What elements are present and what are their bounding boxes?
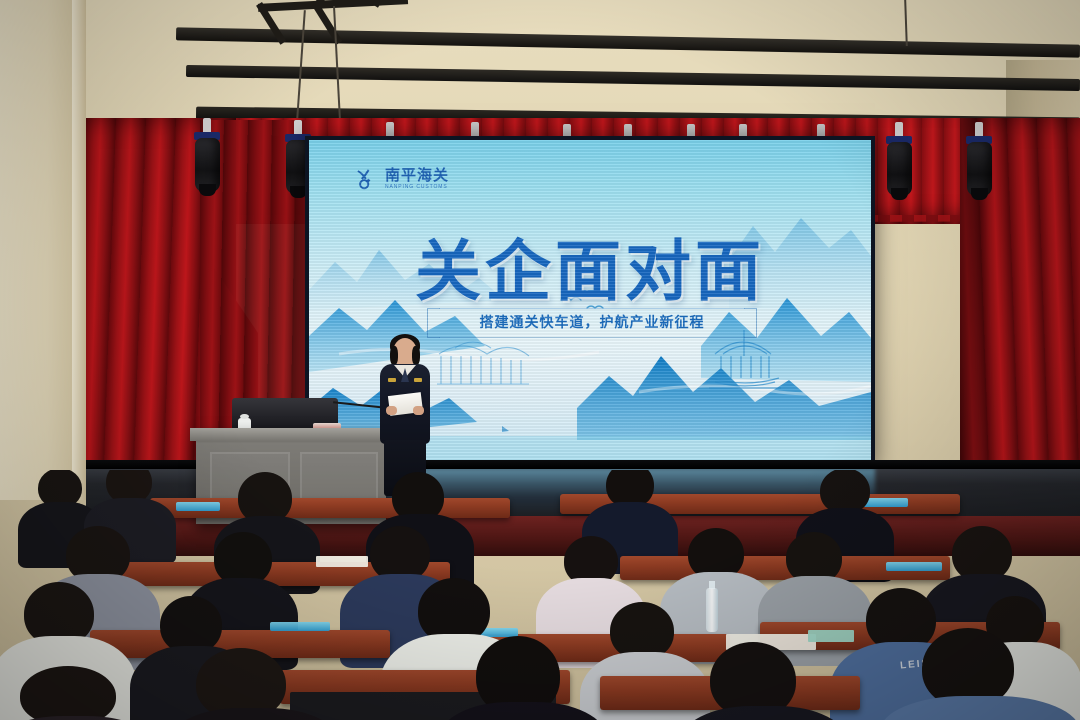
tablet-screen (270, 622, 330, 631)
document-on-desk (316, 556, 368, 567)
bridge-outline-icon (435, 332, 531, 396)
customs-emblem-icon (355, 167, 379, 191)
truss-triangle-frame (258, 0, 418, 44)
audience-area: LEISURE (0, 470, 1080, 720)
slide-subtitle-frame: 搭建通关快车道，护航产业新征程 (427, 308, 757, 336)
customs-logo: 南平海关 NANPING CUSTOMS (355, 167, 449, 191)
logo-cn-name: 南平海关 (385, 168, 449, 183)
slide-subtitle: 搭建通关快车道，护航产业新征程 (427, 312, 757, 332)
tablet-screen (176, 502, 220, 511)
tablet-screen (862, 498, 908, 507)
logo-en-name: NANPING CUSTOMS (385, 185, 449, 190)
slide-title: 关企面对面 (309, 218, 871, 314)
left-pillar-edge (72, 0, 86, 500)
water-bottle (706, 588, 718, 632)
tablet-screen (886, 562, 942, 571)
conference-hall-photo: 南平海关 NANPING CUSTOMS 关企面对面 搭建通关快车道，护航产业新… (0, 0, 1080, 720)
boat-icon (489, 424, 515, 432)
green-document (808, 630, 854, 642)
